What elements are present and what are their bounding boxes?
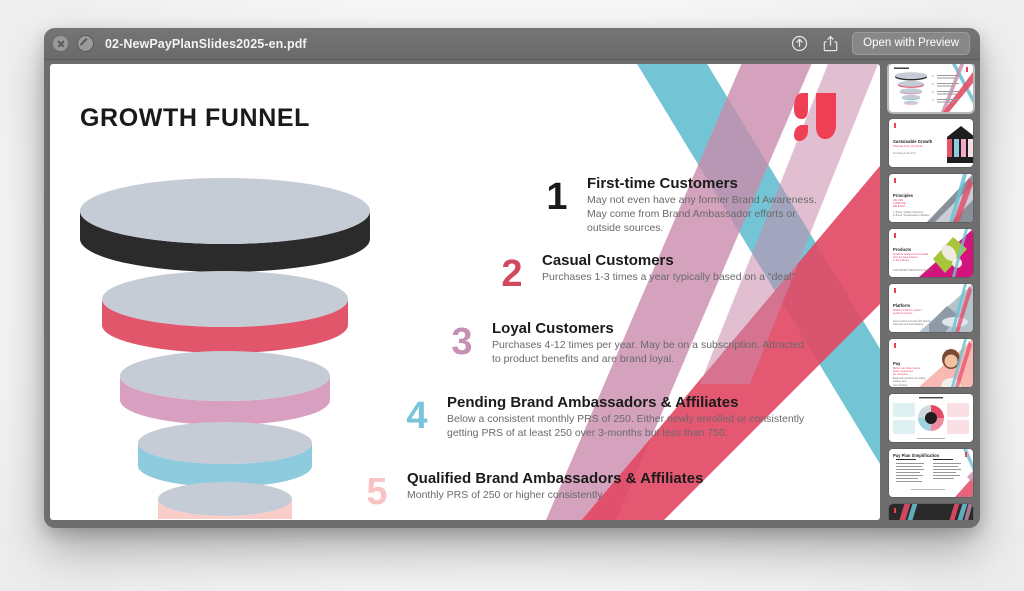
desktop-background: 02-NewPayPlanSlides2025-en.pdf Open with…	[0, 0, 1024, 591]
growth-funnel-graphic	[70, 169, 400, 519]
item-heading: Casual Customers	[542, 252, 795, 269]
window-titlebar: 02-NewPayPlanSlides2025-en.pdf Open with…	[44, 28, 980, 60]
item-description: Below a consistent monthly PRS of 250. E…	[447, 413, 805, 440]
open-with-preview-button[interactable]: Open with Preview	[852, 32, 970, 55]
funnel-disc-4	[138, 422, 312, 487]
thumbnail-platform[interactable]: Platform Platform built for modern socia…	[889, 284, 973, 332]
item-description: May not even have any former Brand Aware…	[587, 194, 819, 235]
item-description: Purchases 4-12 times per year. May be on…	[492, 339, 814, 366]
thumbnail-body: New Customer Growth with Options Discoun…	[893, 320, 931, 327]
thumbnail-subtitle: Potential to be your future	[893, 145, 923, 148]
thumbnail-sustainable-growth[interactable]: Sustainable Growth Potential to be your …	[889, 119, 973, 167]
thumbnail-pay-plan-simplification[interactable]: Pay Plan Simplification	[889, 449, 973, 497]
thumbnail-body: Focusing on the 3 P's	[893, 152, 916, 155]
titlebar-actions: Open with Preview	[790, 32, 980, 55]
markup-annotate-icon[interactable]	[790, 34, 809, 53]
thumbnail-two-ways-to-earn[interactable]: TWO WAYS TO EARN	[889, 504, 973, 520]
thumbnail-principles[interactable]: Principles VALUES PURPOSE WE EXIST 1. Br…	[889, 174, 973, 222]
item-heading: Loyal Customers	[492, 320, 814, 337]
funnel-disc-2	[102, 271, 348, 353]
item-heading: First-time Customers	[587, 175, 819, 192]
thumbnail-growth-funnel[interactable]: 12 34	[889, 64, 973, 112]
funnel-disc-5	[158, 482, 292, 519]
thumbnail-subtitle: Better pay, better terms, better experie…	[893, 367, 921, 376]
list-item: 2 Casual Customers Purchases 1-3 times a…	[490, 252, 795, 292]
thumbnail-subtitle: Products designed and crafted from the b…	[893, 253, 928, 262]
funnel-disc-1	[80, 178, 370, 272]
item-number: 5	[355, 474, 399, 510]
thumbnail-subtitle: VALUES PURPOSE WE EXIST	[893, 199, 906, 208]
close-icon[interactable]	[53, 36, 68, 51]
thumbnail-products[interactable]: Products Products designed and crafted f…	[889, 229, 973, 277]
thumbnail-body: CONSISTENT RESULTS IN 30 DAYS	[893, 269, 933, 272]
thumbnail-subtitle: Platform built for modern social commerc…	[893, 309, 921, 315]
thumbnail-ecosystem[interactable]	[889, 394, 973, 442]
no-entry-icon[interactable]	[77, 35, 94, 52]
list-item: 3 Loyal Customers Purchases 4-12 times p…	[440, 320, 814, 367]
thumbnail-body: 1. Brand | Quality | Business 2. Brand |…	[893, 211, 929, 218]
pdf-slide-page: GROWTH FUNNEL	[50, 64, 880, 520]
item-number: 3	[440, 324, 484, 360]
thumbnail-title: Pay Plan Simplification	[893, 453, 939, 458]
thumbnail-rail[interactable]: 12 34 Sustainable Growth	[886, 64, 976, 520]
list-item: 1 First-time Customers May not even have…	[535, 175, 819, 235]
list-item: 5 Qualified Brand Ambassadors & Affiliat…	[355, 470, 703, 510]
thumbnail-title: Sustainable Growth	[893, 139, 932, 144]
item-heading: Pending Brand Ambassadors & Affiliates	[447, 394, 805, 411]
thumbnail-title: Platform	[893, 303, 910, 308]
thumbnail-pay[interactable]: Pay Better pay, better terms, better exp…	[889, 339, 973, 387]
item-description: Purchases 1-3 times a year typically bas…	[542, 271, 795, 285]
page-title: GROWTH FUNNEL	[80, 104, 310, 133]
quicklook-window: 02-NewPayPlanSlides2025-en.pdf Open with…	[44, 28, 980, 528]
item-description: Monthly PRS of 250 or higher consistentl…	[407, 489, 703, 503]
funnel-disc-3	[120, 351, 330, 425]
thumbnail-title: Products	[893, 247, 911, 252]
item-number: 1	[535, 179, 579, 215]
window-title: 02-NewPayPlanSlides2025-en.pdf	[105, 37, 307, 51]
share-icon[interactable]	[821, 34, 840, 53]
item-heading: Qualified Brand Ambassadors & Affiliates	[407, 470, 703, 487]
item-number: 2	[490, 256, 534, 292]
thumbnail-body: Balanced incentives for selling, sharing…	[893, 377, 926, 387]
thumbnail-title: Pay	[893, 361, 900, 366]
thumbnail-title: Principles	[893, 193, 913, 198]
brand-leaf-logo	[792, 89, 838, 143]
item-number: 4	[395, 398, 439, 434]
list-item: 4 Pending Brand Ambassadors & Affiliates…	[395, 394, 805, 441]
